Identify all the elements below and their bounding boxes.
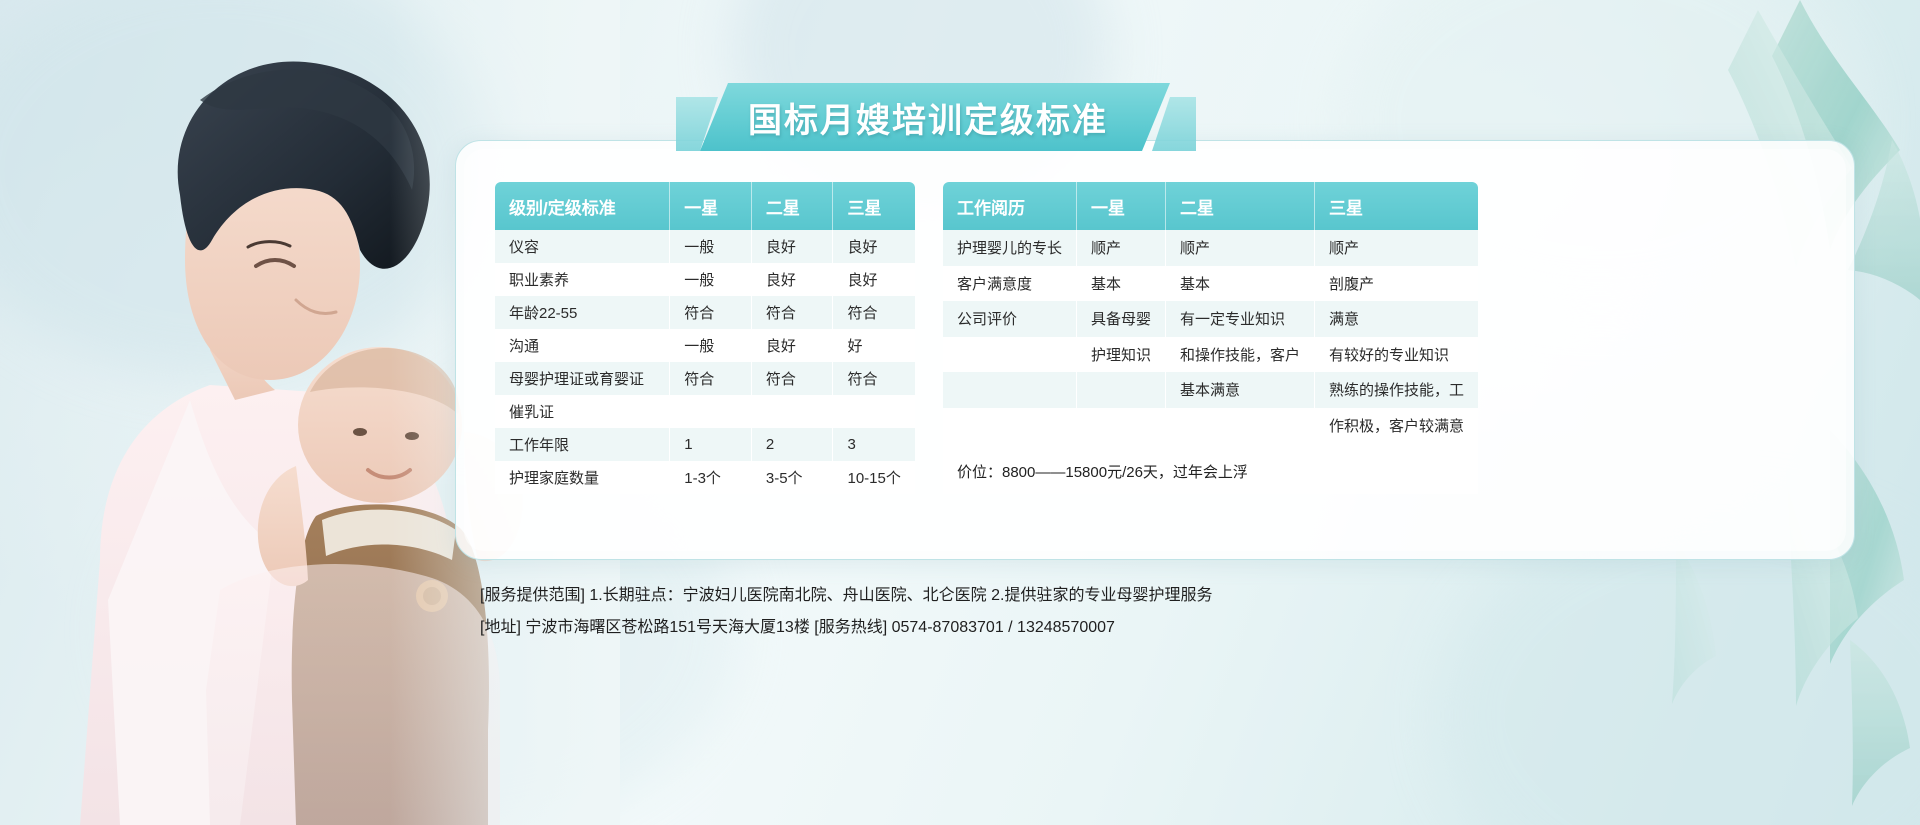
left-header-criteria: 级别/定级标准	[495, 182, 670, 230]
cell-one-star: 基本	[1077, 266, 1166, 302]
cell-one-star: 1	[670, 428, 752, 461]
cell-experience: 护理婴儿的专长	[943, 230, 1077, 266]
cell-experience: 客户满意度	[943, 266, 1077, 302]
table-row: 沟通 一般 良好 好	[495, 329, 915, 362]
left-header-three-star: 三星	[833, 182, 915, 230]
cell-one-star	[1077, 408, 1166, 444]
price-note-row: 价位：8800——15800元/26天，过年会上浮	[943, 443, 1478, 494]
table-row: 职业素养 一般 良好 良好	[495, 263, 915, 296]
cell-three-star: 满意	[1315, 301, 1479, 337]
right-header-experience: 工作阅历	[943, 182, 1077, 230]
banner-title-text: 国标月嫂培训定级标准	[700, 83, 1170, 151]
cell-three-star: 符合	[833, 362, 915, 395]
price-note-text: 价位：8800——15800元/26天，过年会上浮	[943, 443, 1478, 494]
right-header-one-star: 一星	[1077, 182, 1166, 230]
cell-three-star	[833, 395, 915, 428]
right-header-three-star: 三星	[1315, 182, 1479, 230]
cell-three-star: 良好	[833, 230, 915, 263]
cell-three-star: 良好	[833, 263, 915, 296]
table-row: 基本满意 熟练的操作技能，工	[943, 372, 1478, 408]
poster-canvas: 国标月嫂培训定级标准 级别/定级标准 一星 二星 三星 仪容 一般 良好	[0, 0, 1920, 825]
cell-three-star: 好	[833, 329, 915, 362]
table-row: 作积极，客户较满意	[943, 408, 1478, 444]
work-experience-table: 工作阅历 一星 二星 三星 护理婴儿的专长 顺产 顺产 顺产 客户满意度 基本 …	[943, 182, 1478, 494]
cell-one-star: 顺产	[1077, 230, 1166, 266]
table-row: 护理家庭数量 1-3个 3-5个 10-15个	[495, 461, 915, 494]
cell-two-star: 基本满意	[1166, 372, 1315, 408]
table-row: 催乳证	[495, 395, 915, 428]
cell-one-star	[1077, 372, 1166, 408]
cell-criteria: 护理家庭数量	[495, 461, 670, 494]
cell-one-star: 符合	[670, 362, 752, 395]
cell-criteria: 催乳证	[495, 395, 670, 428]
cell-three-star: 10-15个	[833, 461, 915, 494]
cell-two-star: 顺产	[1166, 230, 1315, 266]
cell-one-star: 1-3个	[670, 461, 752, 494]
cell-one-star: 符合	[670, 296, 752, 329]
cell-one-star: 一般	[670, 329, 752, 362]
cell-two-star: 良好	[751, 329, 833, 362]
right-header-two-star: 二星	[1166, 182, 1315, 230]
cell-criteria: 仪容	[495, 230, 670, 263]
cell-one-star: 一般	[670, 230, 752, 263]
cell-experience	[943, 372, 1077, 408]
table-row: 公司评价 具备母婴 有一定专业知识 满意	[943, 301, 1478, 337]
cell-three-star: 熟练的操作技能，工	[1315, 372, 1479, 408]
left-header-one-star: 一星	[670, 182, 752, 230]
cell-two-star: 良好	[751, 230, 833, 263]
cell-experience	[943, 408, 1077, 444]
service-scope-line: [服务提供范围] 1.长期驻点：宁波妇儿医院南北院、舟山医院、北仑医院 2.提供…	[480, 580, 1212, 612]
table-row: 工作年限 1 2 3	[495, 428, 915, 461]
table-row: 仪容 一般 良好 良好	[495, 230, 915, 263]
cell-three-star: 有较好的专业知识	[1315, 337, 1479, 373]
footer-info: [服务提供范围] 1.长期驻点：宁波妇儿医院南北院、舟山医院、北仑医院 2.提供…	[480, 580, 1212, 644]
cell-two-star	[751, 395, 833, 428]
cell-three-star: 3	[833, 428, 915, 461]
table-row: 护理婴儿的专长 顺产 顺产 顺产	[943, 230, 1478, 266]
cell-one-star	[670, 395, 752, 428]
cell-two-star: 基本	[1166, 266, 1315, 302]
cell-two-star: 3-5个	[751, 461, 833, 494]
cell-experience: 公司评价	[943, 301, 1077, 337]
cell-three-star: 符合	[833, 296, 915, 329]
cell-two-star	[1166, 408, 1315, 444]
table-row: 护理知识 和操作技能，客户 有较好的专业知识	[943, 337, 1478, 373]
cell-two-star: 和操作技能，客户	[1166, 337, 1315, 373]
cell-one-star: 具备母婴	[1077, 301, 1166, 337]
cell-two-star: 符合	[751, 296, 833, 329]
cell-three-star: 顺产	[1315, 230, 1479, 266]
cell-two-star: 有一定专业知识	[1166, 301, 1315, 337]
cell-criteria: 沟通	[495, 329, 670, 362]
table-row: 年龄22-55 符合 符合 符合	[495, 296, 915, 329]
address-hotline-line: [地址] 宁波市海曙区苍松路151号天海大厦13楼 [服务热线] 0574-87…	[480, 612, 1212, 644]
left-header-two-star: 二星	[751, 182, 833, 230]
table-header-row: 级别/定级标准 一星 二星 三星	[495, 182, 915, 230]
cell-three-star: 剖腹产	[1315, 266, 1479, 302]
cell-experience	[943, 337, 1077, 373]
table-header-row: 工作阅历 一星 二星 三星	[943, 182, 1478, 230]
table-row: 客户满意度 基本 基本 剖腹产	[943, 266, 1478, 302]
cell-criteria: 母婴护理证或育婴证	[495, 362, 670, 395]
cell-criteria: 工作年限	[495, 428, 670, 461]
tables-container: 级别/定级标准 一星 二星 三星 仪容 一般 良好 良好 职业素养 一般 良好	[495, 182, 1478, 494]
cell-criteria: 职业素养	[495, 263, 670, 296]
cell-two-star: 2	[751, 428, 833, 461]
cell-criteria: 年龄22-55	[495, 296, 670, 329]
cell-three-star: 作积极，客户较满意	[1315, 408, 1479, 444]
grading-standard-table: 级别/定级标准 一星 二星 三星 仪容 一般 良好 良好 职业素养 一般 良好	[495, 182, 915, 494]
cell-two-star: 符合	[751, 362, 833, 395]
table-row: 母婴护理证或育婴证 符合 符合 符合	[495, 362, 915, 395]
cell-two-star: 良好	[751, 263, 833, 296]
cell-one-star: 一般	[670, 263, 752, 296]
cell-one-star: 护理知识	[1077, 337, 1166, 373]
title-banner: 国标月嫂培训定级标准	[700, 83, 1170, 151]
